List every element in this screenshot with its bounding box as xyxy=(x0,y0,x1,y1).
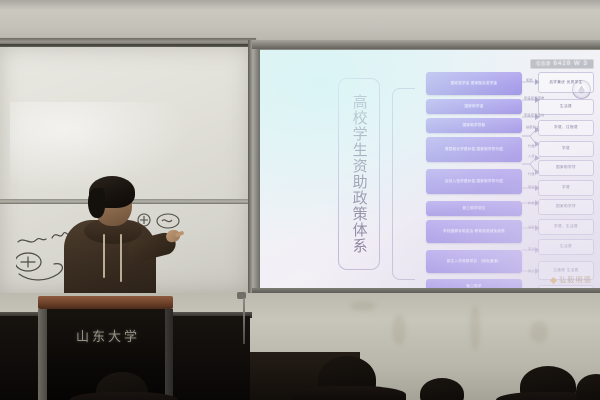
leaf-label: 生活费 xyxy=(560,244,572,249)
hoodie-drawstring-right xyxy=(120,234,122,282)
mindmap-leaf: 学费 xyxy=(538,141,594,157)
mindmap-node: 国家奖学金 国家励志奖学金 xyxy=(426,72,522,95)
connector-tag: 资助 xyxy=(528,224,535,229)
leaf-label: 学费 xyxy=(562,185,570,190)
mindmap-leaf: 学费、生活费 xyxy=(538,219,594,235)
mindmap-node: 勤工助学岗位 xyxy=(426,201,522,216)
motto-text: 弘毅明德 xyxy=(559,275,592,285)
node-label: 国家助学金 xyxy=(465,104,484,109)
mindmap-node-column: 国家奖学金 国家励志奖学金 国家助学金 国家助学贷款 基层就业学费补偿 国家助学… xyxy=(426,72,522,290)
mindmap-leaf: 生活费 xyxy=(538,239,594,255)
mindmap-node: 学校困雾补助金及 教育退费减免政策 xyxy=(426,220,522,243)
node-label: 国家奖学金 国家励志奖学金 xyxy=(451,81,498,86)
connector-tag: 劳动 xyxy=(528,184,535,189)
connector-tag: 代偿 xyxy=(528,171,535,176)
leaf-label: 生活费 xyxy=(560,104,572,109)
mindmap-leaf: 品学兼优 优秀学生 xyxy=(538,72,594,93)
mindmap-leaf: 学费、住宿费 xyxy=(538,120,594,136)
mindmap-node: 国家助学贷款 xyxy=(426,118,522,133)
leaf-label: 学费、住宿费 xyxy=(554,125,578,130)
mindmap-bracket xyxy=(392,88,415,280)
mindmap-node: 基层就业学费补偿 国家助学贷代偿 xyxy=(426,137,522,162)
mindmap-node: 新生入学资助项目 （绿色通道） xyxy=(426,250,522,273)
leaf-label: 学费 xyxy=(562,146,570,151)
audience-shoulders xyxy=(292,386,406,400)
connector-tag: 禁止 xyxy=(528,268,535,273)
mindmap-leaf-column: 品学兼优 优秀学生 生活费 学费、住宿费 学费 国家助学贷 学费 国家助学贷 学… xyxy=(538,72,594,290)
node-label: 学校困雾补助金及 教育退费减免政策 xyxy=(443,229,505,234)
mindmap-node: 应征入伍学费补偿 国家助学贷代偿 xyxy=(426,169,522,194)
connector-tag: 代偿 xyxy=(528,143,535,148)
connector-tag: 入伍 xyxy=(528,153,535,158)
audience-shoulders xyxy=(70,392,178,400)
leaf-label: 国家助学贷 xyxy=(556,204,576,209)
node-label: 应征入伍学费补偿 国家助学贷代偿 xyxy=(445,179,503,184)
connector-tag: 奖励 xyxy=(526,77,533,82)
lectern-engraving: 山东大学 xyxy=(56,326,160,346)
slide-motto: 弘毅明德 xyxy=(551,275,592,285)
osd-code-text: 6428 W 3 xyxy=(554,61,588,67)
mindmap-leaf: 国家助学贷 xyxy=(538,160,594,176)
presenter-sideburn xyxy=(88,188,105,218)
ceiling-shadow xyxy=(0,0,600,10)
lectern-top xyxy=(38,296,173,309)
mindmap-node: 国家助学金 xyxy=(426,99,522,114)
connector-tag: 劳动 xyxy=(528,246,535,251)
leaf-label: 学费、生活费 xyxy=(554,224,578,229)
node-label: 基层就业学费补偿 国家助学贷代偿 xyxy=(445,147,503,152)
mindmap-leaf: 学费 xyxy=(538,180,594,196)
mindmap-leaf: 生活费 xyxy=(538,99,594,115)
leaf-label: 国家助学贷 xyxy=(556,165,576,170)
projector-osd-label: 信息源 6428 W 3 xyxy=(530,59,594,69)
diamond-icon xyxy=(550,276,557,283)
node-label: 国家助学贷款 xyxy=(463,123,486,128)
slide-title-text: 高校学生资助政策体系 xyxy=(349,94,368,254)
mindmap-leaf: 国家助学贷 xyxy=(538,199,594,215)
projection-screen-left-frame xyxy=(248,40,260,302)
node-label: 勤工助学岗位 xyxy=(463,206,486,211)
node-label: 新生入学资助项目 （绿色通道） xyxy=(447,259,501,264)
presenter xyxy=(58,172,180,302)
slide-title-box: 高校学生资助政策体系 xyxy=(338,78,380,270)
lectern-engraving-text: 山东大学 xyxy=(76,330,140,345)
connector-tag: 补助 xyxy=(528,200,535,205)
lectern-right-panel xyxy=(164,309,173,400)
microphone-stand xyxy=(243,298,245,344)
projection-screen: 信息源 6428 W 3 高校学生资助政策体系 国家奖学金 国家励志奖学金 国家… xyxy=(260,50,600,290)
projection-screen-top-frame xyxy=(252,40,600,49)
leaf-label: 交通费 生活费 xyxy=(553,268,578,273)
hoodie-drawstring-left xyxy=(103,234,105,278)
leaf-label: 品学兼优 优秀学生 xyxy=(549,80,582,85)
classroom-photo-scene: 信息源 6428 W 3 高校学生资助政策体系 国家奖学金 国家励志奖学金 国家… xyxy=(0,0,600,400)
osd-prefix-text: 信息源 xyxy=(536,61,550,67)
